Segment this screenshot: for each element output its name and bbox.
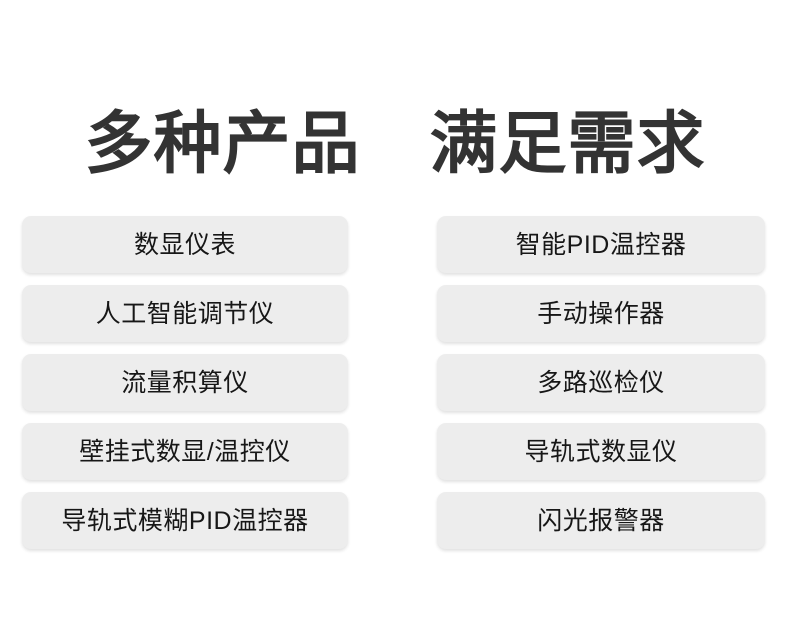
- product-category-label: 多路巡检仪: [537, 368, 665, 398]
- product-category-button-din-rail-digital-display[interactable]: 导轨式数显仪: [437, 423, 765, 480]
- product-category-label: 导轨式模糊PID温控器: [61, 506, 308, 536]
- product-category-page: 多种产品 满足需求 数显仪表 人工智能调节仪 流量积算仪 壁挂式数显/温控仪 导…: [0, 0, 790, 626]
- product-category-button-smart-pid-temp-controller[interactable]: 智能PID温控器: [437, 216, 765, 273]
- product-category-label: 闪光报警器: [537, 506, 665, 536]
- product-category-label: 数显仪表: [134, 230, 236, 260]
- product-category-button-wall-mount-display-temp-controller[interactable]: 壁挂式数显/温控仪: [22, 423, 348, 480]
- product-category-label: 手动操作器: [537, 299, 665, 329]
- product-category-button-digital-display-meter[interactable]: 数显仪表: [22, 216, 348, 273]
- product-category-grid: 数显仪表 人工智能调节仪 流量积算仪 壁挂式数显/温控仪 导轨式模糊PID温控器…: [22, 216, 765, 549]
- product-category-button-ai-regulator[interactable]: 人工智能调节仪: [22, 285, 348, 342]
- product-category-label: 智能PID温控器: [516, 230, 687, 260]
- product-category-label: 导轨式数显仪: [524, 437, 677, 467]
- product-column-right: 智能PID温控器 手动操作器 多路巡检仪 导轨式数显仪 闪光报警器: [437, 216, 765, 549]
- product-category-button-multi-channel-inspector[interactable]: 多路巡检仪: [437, 354, 765, 411]
- product-category-label: 壁挂式数显/温控仪: [79, 437, 290, 467]
- page-title: 多种产品 满足需求: [0, 102, 790, 186]
- product-column-left: 数显仪表 人工智能调节仪 流量积算仪 壁挂式数显/温控仪 导轨式模糊PID温控器: [22, 216, 348, 549]
- product-category-label: 流量积算仪: [121, 368, 249, 398]
- product-category-label: 人工智能调节仪: [96, 299, 275, 329]
- product-category-button-flow-totalizer[interactable]: 流量积算仪: [22, 354, 348, 411]
- product-category-button-din-rail-fuzzy-pid-temp-controller[interactable]: 导轨式模糊PID温控器: [22, 492, 348, 549]
- product-category-button-manual-operator[interactable]: 手动操作器: [437, 285, 765, 342]
- product-category-button-flash-alarm[interactable]: 闪光报警器: [437, 492, 765, 549]
